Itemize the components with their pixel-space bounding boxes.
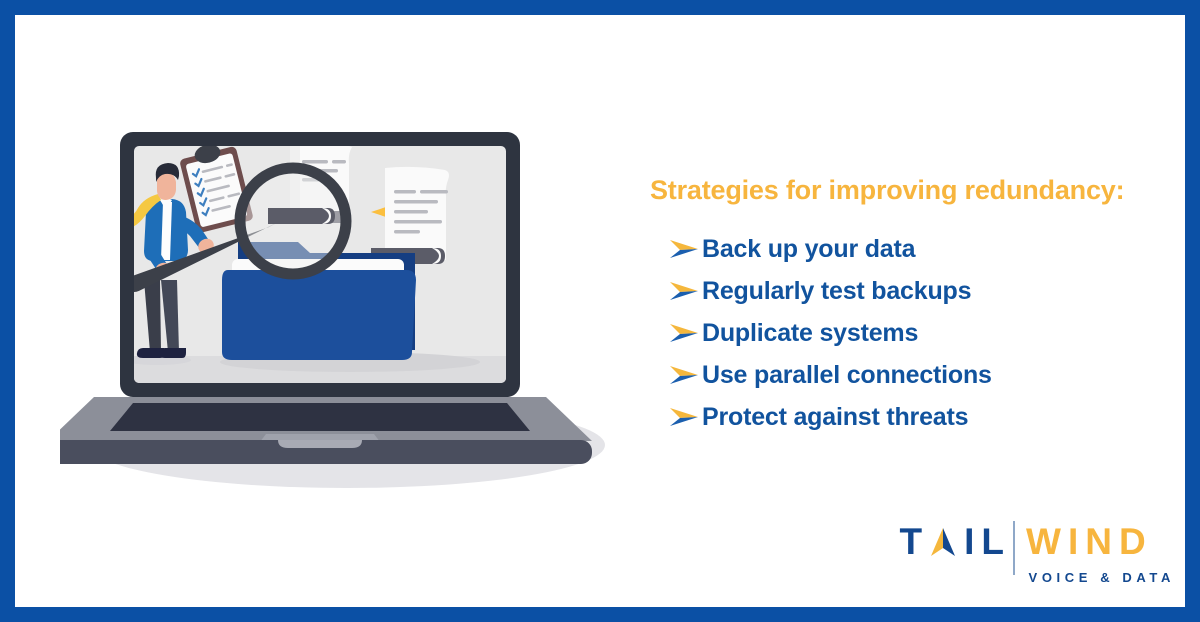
logo-wind-text: WIND [1026, 523, 1153, 560]
slide-canvas: Strategies for improving redundancy: Bac… [15, 15, 1185, 607]
logo-divider [1013, 521, 1015, 575]
laptop-front-notch [278, 440, 362, 448]
list-item-label: Use parallel connections [702, 361, 992, 390]
content-panel: Strategies for improving redundancy: Bac… [650, 175, 1170, 438]
list-item: Use parallel connections [668, 354, 1170, 396]
list-item-label: Back up your data [702, 235, 915, 264]
chevron-arrow-icon [668, 364, 702, 386]
tailwind-logo: T IL WIND VOICE & DATA [900, 521, 1175, 585]
list-item: Regularly test backups [668, 270, 1170, 312]
chevron-arrow-icon [668, 280, 702, 302]
list-item: Duplicate systems [668, 312, 1170, 354]
logo-letter-t: T [900, 523, 930, 560]
page-title: Strategies for improving redundancy: [650, 175, 1170, 206]
laptop-keyboard [110, 403, 530, 431]
list-item-label: Protect against threats [702, 403, 968, 432]
logo-tail-text: T IL [900, 523, 1012, 560]
chevron-arrow-icon [668, 406, 702, 428]
strategy-list: Back up your data Regularly test backups [650, 228, 1170, 438]
chevron-arrow-icon [668, 238, 702, 260]
logo-letter-a-icon [929, 527, 957, 557]
slide-frame: Strategies for improving redundancy: Bac… [0, 0, 1200, 622]
list-item-label: Regularly test backups [702, 277, 971, 306]
list-item: Back up your data [668, 228, 1170, 270]
logo-wordmark: T IL WIND [900, 521, 1175, 561]
list-item: Protect against threats [668, 396, 1170, 438]
logo-tagline: VOICE & DATA [1029, 570, 1175, 585]
laptop-data-search-illustration [60, 120, 635, 490]
logo-letters-il: IL [964, 523, 1011, 560]
chevron-arrow-icon [668, 322, 702, 344]
list-item-label: Duplicate systems [702, 319, 918, 348]
